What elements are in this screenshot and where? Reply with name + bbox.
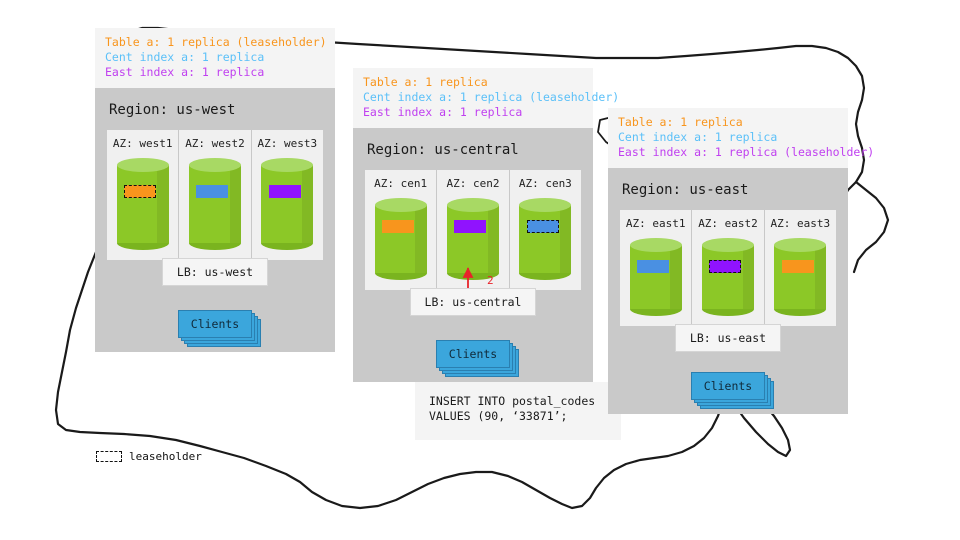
cylinder-shade	[415, 205, 426, 273]
load-balancer-us-east[interactable]: LB: us-east	[675, 324, 781, 352]
region-legend-us-central: Table a: 1 replica Cent index a: 1 repli…	[353, 68, 593, 128]
cylinder-top	[702, 238, 754, 252]
sql-statement-box: INSERT INTO postal_codes VALUES (90, ‘33…	[415, 382, 621, 440]
region-legend-us-east: Table a: 1 replica Cent index a: 1 repli…	[608, 108, 848, 168]
clients-button[interactable]: Clients	[178, 310, 252, 338]
cylinder-top	[774, 238, 826, 252]
cylinder-shade	[670, 245, 681, 309]
az-east1[interactable]: AZ: east1	[620, 210, 691, 326]
load-balancer-us-central[interactable]: LB: us-central	[410, 288, 537, 316]
legend-line-cent-index: Cent index a: 1 replica	[105, 50, 325, 65]
az-label: AZ: cen2	[447, 177, 500, 190]
cylinder-top	[117, 158, 169, 172]
az-east3[interactable]: AZ: east3	[764, 210, 836, 326]
cylinder-top	[519, 198, 571, 212]
az-label: AZ: west3	[258, 137, 318, 150]
node-cylinder[interactable]	[630, 238, 682, 316]
az-label: AZ: cen1	[374, 177, 427, 190]
az-label: AZ: east3	[771, 217, 831, 230]
cylinder-shade	[230, 165, 241, 243]
replica-swatch	[782, 260, 814, 273]
node-cylinder[interactable]	[117, 158, 169, 250]
clients-button[interactable]: Clients	[691, 372, 765, 400]
node-cylinder[interactable]	[774, 238, 826, 316]
region-title: Region: us-east	[622, 182, 836, 198]
az-label: AZ: west2	[185, 137, 245, 150]
cylinder-shade	[743, 245, 754, 309]
legend-line-table: Table a: 1 replica	[363, 75, 583, 90]
cylinder-top	[189, 158, 241, 172]
cylinder-shade	[815, 245, 826, 309]
dashed-rectangle-icon	[96, 451, 122, 462]
legend-line-table: Table a: 1 replica (leaseholder)	[105, 35, 325, 50]
node-cylinder[interactable]	[189, 158, 241, 250]
cylinder-shade	[560, 205, 571, 273]
az-label: AZ: east2	[698, 217, 758, 230]
legend-line-cent-index: Cent index a: 1 replica	[618, 130, 838, 145]
region-body-us-west: Region: us-west AZ: west1 AZ: west2	[95, 88, 335, 352]
node-cylinder[interactable]	[519, 198, 571, 280]
region-body-us-central: Region: us-central AZ: cen1 AZ: cen2	[353, 128, 593, 382]
legend-line-table: Table a: 1 replica	[618, 115, 838, 130]
az-row-us-east: AZ: east1 AZ: east2	[620, 210, 836, 326]
legend-line-east-index: East index a: 1 replica (leaseholder)	[618, 145, 838, 160]
az-cen1[interactable]: AZ: cen1	[365, 170, 436, 290]
clients-button[interactable]: Clients	[436, 340, 510, 368]
legend-line-cent-index: Cent index a: 1 replica (leaseholder)	[363, 90, 583, 105]
cylinder-top	[447, 198, 499, 212]
legend-line-east-index: East index a: 1 replica	[363, 105, 583, 120]
region-body-us-east: Region: us-east AZ: east1 AZ: east2	[608, 168, 848, 414]
node-cylinder[interactable]	[261, 158, 313, 250]
az-west1[interactable]: AZ: west1	[107, 130, 178, 260]
region-title: Region: us-west	[109, 102, 323, 118]
az-row-us-central: AZ: cen1 AZ: cen2	[365, 170, 581, 290]
cylinder-top	[261, 158, 313, 172]
az-row-us-west: AZ: west1 AZ: west2	[107, 130, 323, 260]
az-cen3[interactable]: AZ: cen3	[509, 170, 581, 290]
replica-swatch-leaseholder	[709, 260, 741, 273]
replica-swatch	[196, 185, 228, 198]
node-cylinder[interactable]	[375, 198, 427, 280]
region-panel-us-west: Table a: 1 replica (leaseholder) Cent in…	[95, 28, 335, 352]
legend-line-east-index: East index a: 1 replica	[105, 65, 325, 80]
replica-swatch	[382, 220, 414, 233]
node-cylinder[interactable]	[702, 238, 754, 316]
cylinder-top	[375, 198, 427, 212]
region-legend-us-west: Table a: 1 replica (leaseholder) Cent in…	[95, 28, 335, 88]
cylinder-shade	[302, 165, 313, 243]
region-panel-us-central: Table a: 1 replica Cent index a: 1 repli…	[353, 68, 593, 440]
clients-stack-us-west[interactable]: Clients	[178, 310, 252, 338]
az-west2[interactable]: AZ: west2	[178, 130, 250, 260]
page-legend: leaseholder	[96, 450, 202, 463]
replica-swatch-leaseholder	[527, 220, 559, 233]
region-title: Region: us-central	[367, 142, 581, 158]
az-label: AZ: west1	[113, 137, 173, 150]
clients-stack-us-east[interactable]: Clients	[691, 372, 765, 400]
replica-swatch-leaseholder	[124, 185, 156, 198]
diagram-canvas: Table a: 1 replica (leaseholder) Cent in…	[0, 0, 960, 540]
replica-swatch	[637, 260, 669, 273]
cylinder-shade	[157, 165, 168, 243]
az-west3[interactable]: AZ: west3	[251, 130, 323, 260]
page-legend-label: leaseholder	[129, 450, 202, 463]
cylinder-top	[630, 238, 682, 252]
replica-swatch	[269, 185, 301, 198]
az-label: AZ: east1	[626, 217, 686, 230]
az-label: AZ: cen3	[519, 177, 572, 190]
load-balancer-us-west[interactable]: LB: us-west	[162, 258, 268, 286]
region-panel-us-east: Table a: 1 replica Cent index a: 1 repli…	[608, 108, 848, 414]
clients-stack-us-central[interactable]: Clients	[436, 340, 510, 368]
arrow-step-label: 2	[487, 274, 494, 287]
replica-swatch	[454, 220, 486, 233]
az-east2[interactable]: AZ: east2	[691, 210, 763, 326]
